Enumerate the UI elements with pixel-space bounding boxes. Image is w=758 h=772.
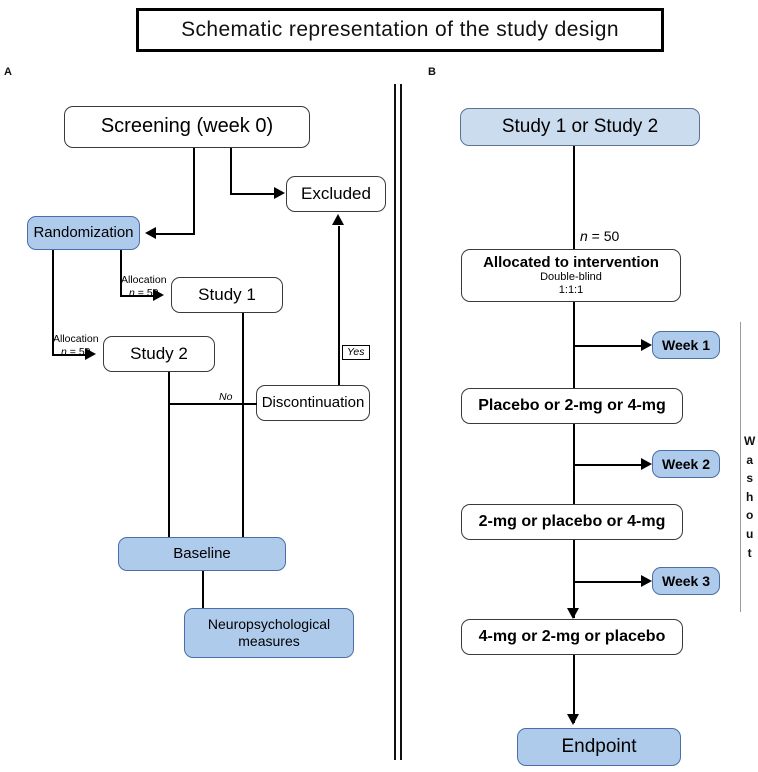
node-study-2-label: Study 2	[130, 344, 188, 364]
arrowhead-period3-to-endpoint	[567, 714, 579, 725]
node-week-2[interactable]: Week 2	[652, 450, 720, 478]
node-allocated-to-intervention[interactable]: Allocated to intervention Double-blind 1…	[461, 249, 681, 302]
node-allocated-sub-1: Double-blind	[540, 271, 602, 284]
node-week-1-label: Week 1	[662, 337, 710, 354]
node-week-3[interactable]: Week 3	[652, 567, 720, 595]
figure-title-box: Schematic representation of the study de…	[136, 8, 664, 52]
allocation-study2-n-value: = 50	[67, 346, 91, 358]
node-study-1-or-study-2-label: Study 1 or Study 2	[502, 116, 658, 138]
node-week-3-label: Week 3	[662, 573, 710, 590]
washout-letter-3: h	[746, 488, 753, 507]
node-period-2-label: 2-mg or placebo or 4-mg	[479, 513, 666, 532]
edge-discontinuation-excluded-vertical	[338, 226, 340, 385]
divider-line-right	[400, 84, 402, 760]
edge-discontinuation-no-horizontal	[168, 403, 257, 405]
edge-study2-baseline-vertical	[168, 372, 170, 546]
node-week-1[interactable]: Week 1	[652, 331, 720, 359]
washout-letter-2: s	[746, 469, 753, 488]
panel-b-n-value: = 50	[588, 228, 620, 244]
arrowhead-period2-to-period3	[567, 608, 579, 619]
edge-branch-week1-horizontal	[573, 345, 645, 347]
panel-divider	[394, 84, 402, 760]
node-endpoint-label: Endpoint	[561, 736, 636, 758]
washout-letter-1: a	[746, 451, 753, 470]
edge-label-yes: Yes	[342, 345, 370, 360]
panel-letter-b: B	[428, 66, 436, 78]
arrowhead-screening-to-excluded	[274, 187, 285, 199]
node-randomization[interactable]: Randomization	[27, 216, 140, 250]
node-neuropsych-line-2: measures	[238, 633, 299, 650]
edge-label-n-50-panel-b: n = 50	[580, 228, 619, 244]
node-excluded[interactable]: Excluded	[286, 176, 386, 212]
node-neuropsychological-measures[interactable]: Neuropsychological measures	[184, 608, 354, 658]
divider-line-left	[394, 84, 396, 760]
node-allocated-title: Allocated to intervention	[483, 254, 659, 272]
allocation-study1-text: Allocation	[121, 274, 167, 286]
node-excluded-label: Excluded	[301, 184, 371, 204]
node-screening[interactable]: Screening (week 0)	[64, 106, 310, 148]
panel-letter-a: A	[4, 66, 12, 78]
edge-screening-excluded-vertical	[230, 148, 232, 193]
node-endpoint[interactable]: Endpoint	[517, 728, 681, 766]
node-discontinuation-label: Discontinuation	[262, 394, 365, 412]
edge-study1-baseline-vertical	[242, 313, 244, 546]
panel-b-n-prefix: n	[580, 228, 588, 244]
allocation-study2-text: Allocation	[53, 333, 99, 345]
edge-period3-endpoint-vertical	[573, 655, 575, 723]
node-study-1-label: Study 1	[198, 285, 256, 305]
edge-branch-week3-horizontal	[573, 581, 645, 583]
edge-screening-excluded-horizontal	[230, 193, 276, 195]
node-screening-label: Screening (week 0)	[101, 115, 273, 139]
edge-screening-randomization-vertical	[193, 148, 195, 234]
arrowhead-discontinuation-to-excluded	[332, 214, 344, 225]
washout-label: W a s h o u t	[744, 432, 755, 562]
node-study-1[interactable]: Study 1	[171, 277, 283, 313]
node-randomization-label: Randomization	[33, 224, 133, 242]
node-period-3-label: 4-mg or 2-mg or placebo	[479, 628, 666, 647]
arrowhead-screening-to-randomization	[145, 227, 156, 239]
washout-letter-0: W	[744, 432, 755, 451]
arrowhead-branch-to-week3	[641, 575, 652, 587]
washout-letter-5: u	[746, 525, 753, 544]
washout-letter-6: t	[748, 544, 752, 563]
figure-title: Schematic representation of the study de…	[181, 18, 619, 42]
node-neuropsych-line-1: Neuropsychological	[208, 616, 330, 633]
figure-canvas: Schematic representation of the study de…	[0, 0, 758, 772]
node-period-1[interactable]: Placebo or 2-mg or 4-mg	[461, 388, 683, 424]
node-study-2[interactable]: Study 2	[103, 336, 215, 372]
node-baseline[interactable]: Baseline	[118, 537, 286, 571]
node-week-2-label: Week 2	[662, 456, 710, 473]
edge-period2-period3-vertical	[573, 540, 575, 618]
arrowhead-branch-to-week2	[641, 458, 652, 470]
edge-baseline-neuropsych-vertical	[202, 571, 204, 608]
node-period-1-label: Placebo or 2-mg or 4-mg	[478, 397, 666, 416]
node-period-3[interactable]: 4-mg or 2-mg or placebo	[461, 619, 683, 655]
edge-label-allocation-study2: Allocation n = 50	[53, 333, 99, 359]
allocation-study1-n-value: = 50	[135, 287, 159, 299]
arrowhead-branch-to-week1	[641, 339, 652, 351]
node-baseline-label: Baseline	[173, 545, 231, 563]
washout-letter-4: o	[746, 506, 753, 525]
edge-branch-week2-horizontal	[573, 464, 645, 466]
node-allocated-sub-2: 1:1:1	[559, 284, 583, 297]
edge-label-no: No	[219, 391, 232, 404]
edge-study-to-allocated-vertical	[573, 146, 575, 250]
edge-screening-randomization-horizontal	[156, 233, 195, 235]
washout-bracket-line	[740, 322, 741, 612]
node-period-2[interactable]: 2-mg or placebo or 4-mg	[461, 504, 683, 540]
node-study-1-or-study-2[interactable]: Study 1 or Study 2	[460, 108, 700, 146]
edge-label-allocation-study1: Allocation n = 50	[121, 274, 167, 300]
node-discontinuation[interactable]: Discontinuation	[256, 385, 370, 421]
